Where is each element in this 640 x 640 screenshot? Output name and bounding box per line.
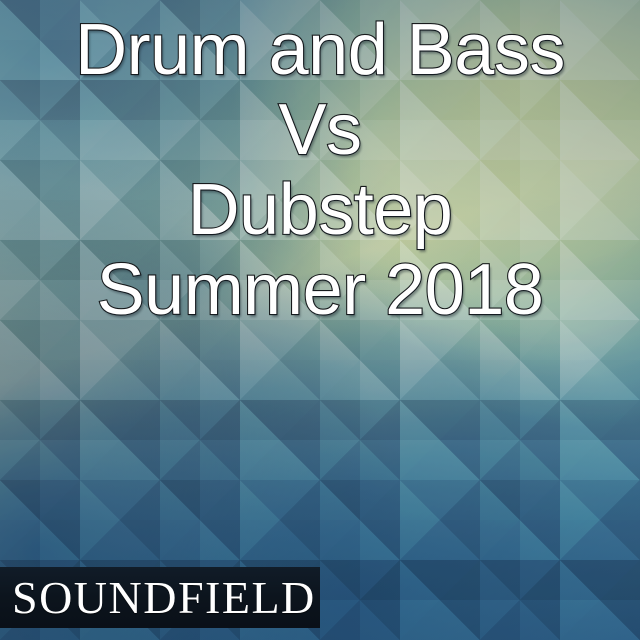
album-title-line-4: Summer 2018	[0, 254, 640, 334]
label-logo-text: SOUNDFIELD	[0, 575, 316, 621]
album-title-line-3: Dubstep	[0, 174, 640, 254]
album-title-line-1: Drum and Bass	[0, 14, 640, 94]
album-cover-artwork: Drum and Bass Vs Dubstep Summer 2018 SOU…	[0, 0, 640, 640]
album-title-block: Drum and Bass Vs Dubstep Summer 2018	[0, 14, 640, 334]
label-logo-banner: SOUNDFIELD	[0, 567, 320, 628]
album-title-line-2: Vs	[0, 94, 640, 174]
